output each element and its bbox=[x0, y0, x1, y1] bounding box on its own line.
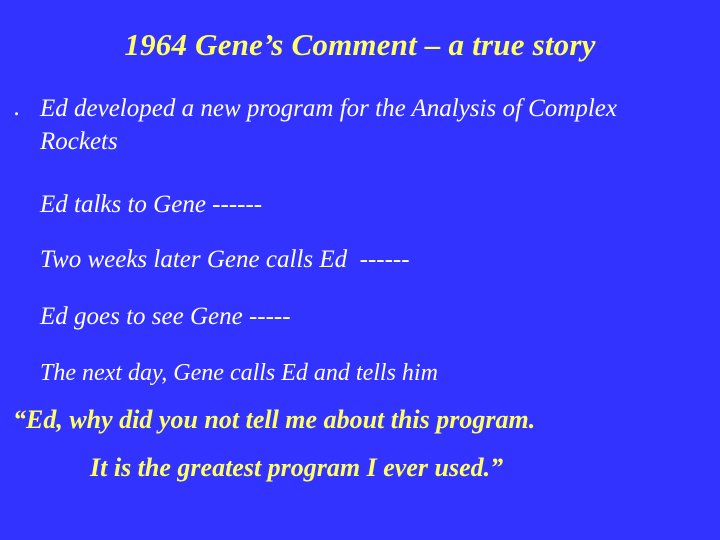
bullet-item: . Ed developed a new program for the Ana… bbox=[14, 92, 694, 158]
story-line-ed-goes-to-see-gene: Ed goes to see Gene ----- bbox=[40, 302, 291, 332]
slide-body: . Ed developed a new program for the Ana… bbox=[0, 92, 720, 512]
story-line-ed-talks-to-gene: Ed talks to Gene ------ bbox=[40, 190, 262, 220]
bullet-marker-icon: . bbox=[14, 92, 40, 124]
quote-line-first: “Ed, why did you not tell me about this … bbox=[13, 404, 535, 436]
story-line-two-weeks-later: Two weeks later Gene calls Ed ------ bbox=[40, 245, 410, 275]
bullet-item-text: Ed developed a new program for the Analy… bbox=[40, 92, 665, 158]
story-line-the-next-day: The next day, Gene calls Ed and tells hi… bbox=[40, 358, 438, 388]
slide-title: 1964 Gene’s Comment – a true story bbox=[0, 27, 720, 63]
quote-line-second: It is the greatest program I ever used.” bbox=[90, 452, 503, 484]
presentation-slide: 1964 Gene’s Comment – a true story . Ed … bbox=[0, 0, 720, 540]
